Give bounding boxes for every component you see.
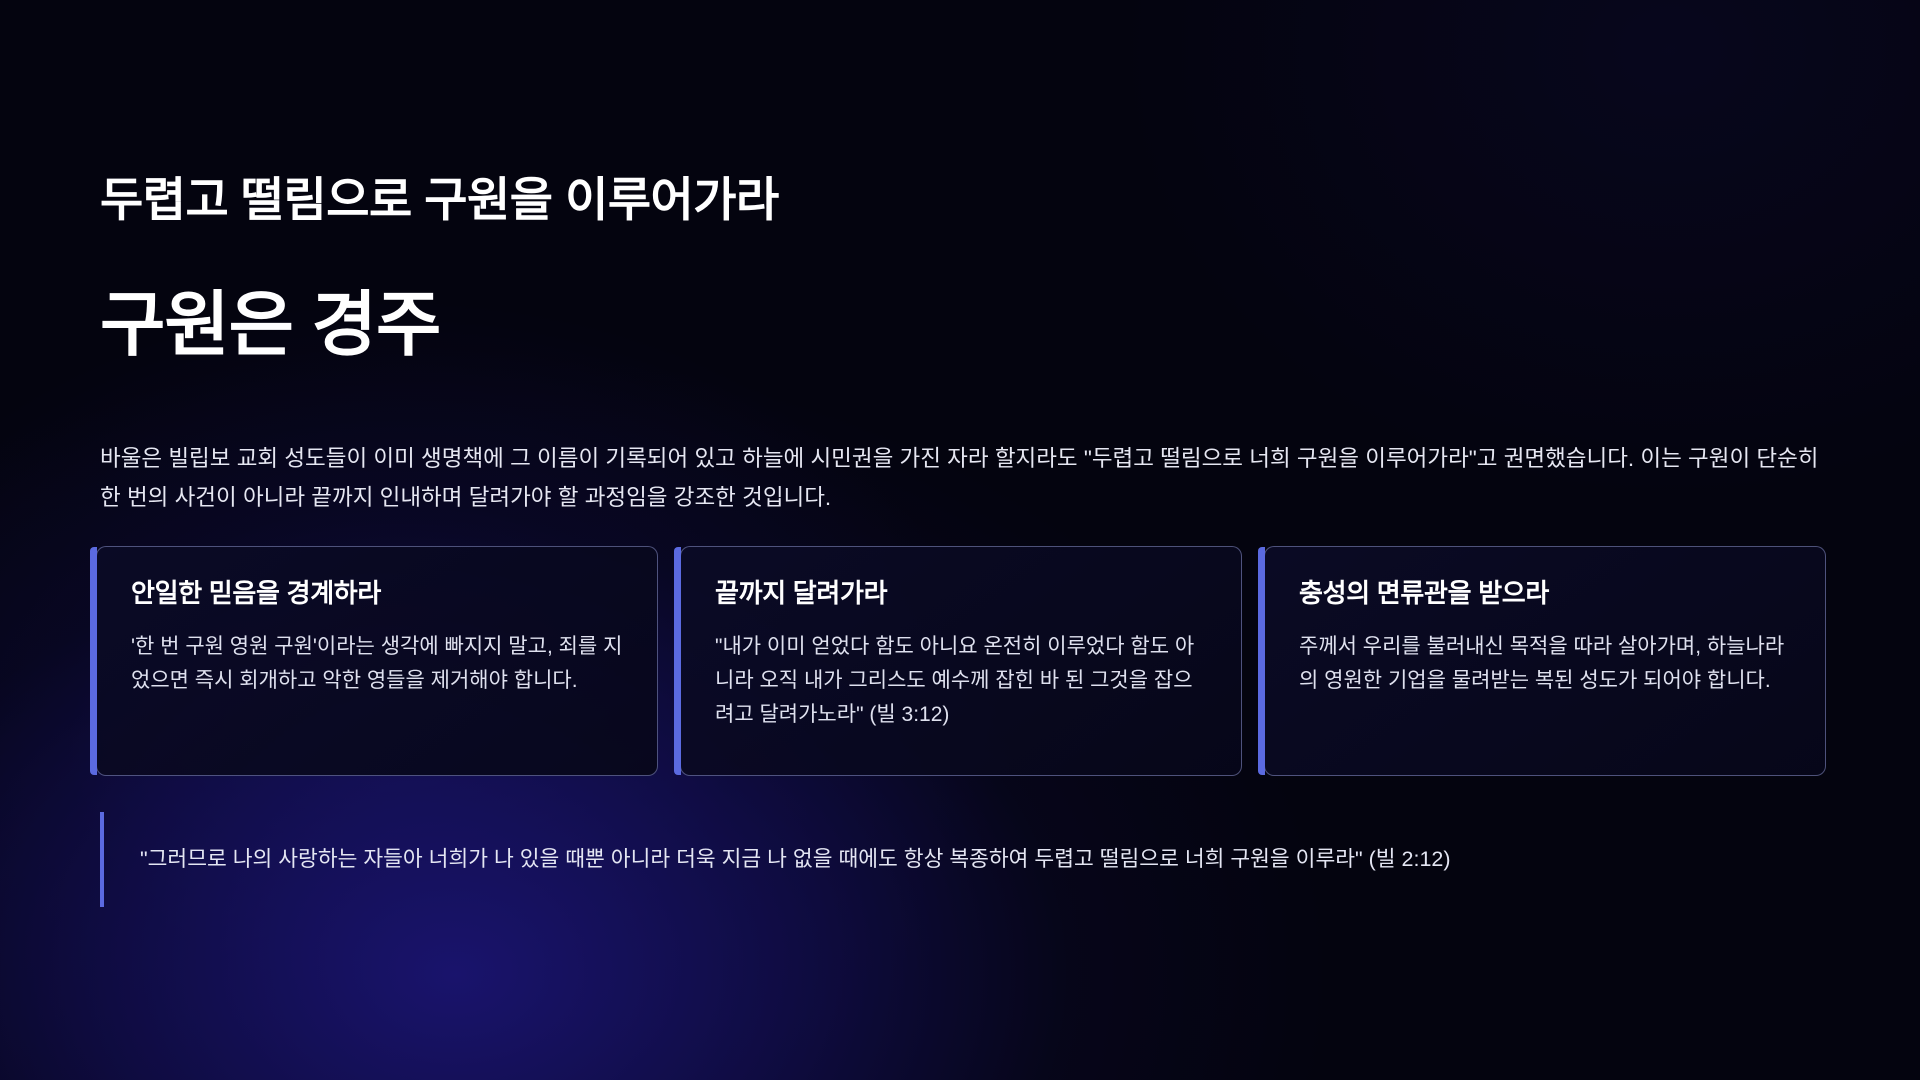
card-title: 충성의 면류관을 받으라 — [1299, 577, 1791, 610]
slide-eyebrow-title: 두렵고 떨림으로 구원을 이루어가라 — [100, 172, 779, 228]
point-card-2: 끝까지 달려가라 "내가 이미 얻었다 함도 아니요 온전히 이루었다 함도 아… — [680, 546, 1242, 776]
point-cards-row: 안일한 믿음을 경계하라 '한 번 구원 영원 구원'이라는 생각에 빠지지 말… — [96, 546, 1826, 776]
card-title: 끝까지 달려가라 — [715, 577, 1207, 610]
card-body-text: 주께서 우리를 불러내신 목적을 따라 살아가며, 하늘나라의 영원한 기업을 … — [1299, 630, 1791, 698]
point-card-1: 안일한 믿음을 경계하라 '한 번 구원 영원 구원'이라는 생각에 빠지지 말… — [96, 546, 658, 776]
slide-main-title: 구원은 경주 — [100, 285, 440, 367]
card-body-text: '한 번 구원 영원 구원'이라는 생각에 빠지지 말고, 죄를 지었으면 즉시… — [131, 630, 623, 698]
background-glow-top-right — [1120, 0, 1920, 500]
card-accent-bar — [90, 547, 97, 775]
card-title: 안일한 믿음을 경계하라 — [131, 577, 623, 610]
card-body-text: "내가 이미 얻었다 함도 아니요 온전히 이루었다 함도 아니라 오직 내가 … — [715, 630, 1207, 732]
scripture-quote-block: "그러므로 나의 사랑하는 자들아 너희가 나 있을 때뿐 아니라 더욱 지금 … — [100, 812, 1820, 907]
card-accent-bar — [674, 547, 681, 775]
point-card-3: 충성의 면류관을 받으라 주께서 우리를 불러내신 목적을 따라 살아가며, 하… — [1264, 546, 1826, 776]
slide-lead-paragraph: 바울은 빌립보 교회 성도들이 이미 생명책에 그 이름이 기록되어 있고 하늘… — [100, 440, 1825, 517]
scripture-quote-text: "그러므로 나의 사랑하는 자들아 너희가 나 있을 때뿐 아니라 더욱 지금 … — [140, 842, 1451, 876]
card-accent-bar — [1258, 547, 1265, 775]
presentation-slide: 두렵고 떨림으로 구원을 이루어가라 구원은 경주 바울은 빌립보 교회 성도들… — [0, 0, 1920, 1080]
